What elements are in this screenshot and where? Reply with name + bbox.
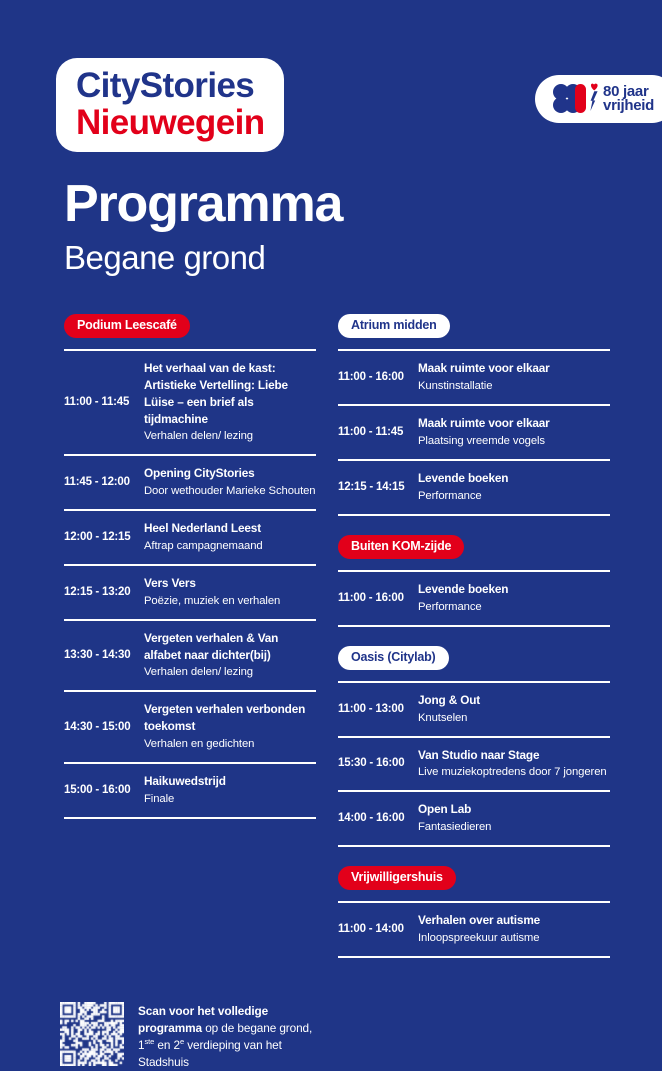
tulip-flame-icon <box>588 83 602 113</box>
program-entry: 13:30 - 14:30Vergeten verhalen & Van alf… <box>64 621 316 693</box>
vrijheid-emblem-icon <box>553 84 599 114</box>
entry-time: 11:00 - 16:00 <box>338 371 418 383</box>
entry-time: 11:00 - 16:00 <box>338 592 418 604</box>
venue-header: Oasis (Citylab) <box>338 646 610 670</box>
entry-body: Vergeten verhalen & Van alfabet naar dic… <box>144 630 316 681</box>
entry-body: HaikuwedstrijdFinale <box>144 773 316 807</box>
entry-description: Fantasiedieren <box>418 819 610 835</box>
entry-body: Van Studio naar StageLive muziekoptreden… <box>418 747 610 781</box>
venue-section: Podium Leescafé11:00 - 11:45Het verhaal … <box>64 314 316 818</box>
program-entry: 11:00 - 11:45Het verhaal van de kast: Ar… <box>64 351 316 456</box>
venue-badge: Buiten KOM-zijde <box>338 535 464 559</box>
entry-time: 11:45 - 12:00 <box>64 476 144 488</box>
entry-body: Open LabFantasiedieren <box>418 801 610 835</box>
right-program-column: Atrium midden11:00 - 16:00Maak ruimte vo… <box>338 314 610 958</box>
program-entry: 11:00 - 13:00Jong & OutKnutselen <box>338 683 610 738</box>
citystories-logo: CityStories Nieuwegein <box>62 61 278 149</box>
qr-text-bold: Scan voor het volledige programma <box>138 1004 268 1035</box>
ordinal-1-suffix: ste <box>144 1037 154 1046</box>
entry-description: Knutselen <box>418 710 610 726</box>
program-entry: 15:00 - 16:00HaikuwedstrijdFinale <box>64 764 316 819</box>
entry-time: 11:00 - 11:45 <box>64 396 144 408</box>
venue-header: Atrium midden <box>338 314 610 338</box>
program-entry: 15:30 - 16:00Van Studio naar StageLive m… <box>338 738 610 793</box>
entry-title: Maak ruimte voor elkaar <box>418 360 610 377</box>
program-entry: 11:45 - 12:00Opening CityStoriesDoor wet… <box>64 456 316 511</box>
page-title: Programma <box>64 178 662 230</box>
logo-line-citystories: CityStories <box>76 68 264 103</box>
entry-description: Performance <box>418 599 610 615</box>
entry-description: Live muziekoptredens door 7 jongeren <box>418 764 610 780</box>
program-entry: 14:30 - 15:00Vergeten verhalen verbonden… <box>64 692 316 764</box>
venue-section: Vrijwilligershuis11:00 - 14:00Verhalen o… <box>338 866 610 958</box>
entry-title: Maak ruimte voor elkaar <box>418 415 610 432</box>
venue-header: Buiten KOM-zijde <box>338 535 610 559</box>
page-subtitle: Begane grond <box>64 240 662 276</box>
ordinal-2-suffix: e <box>180 1037 184 1046</box>
entry-body: Maak ruimte voor elkaarPlaatsing vreemde… <box>418 415 610 449</box>
entry-description: Performance <box>418 488 610 504</box>
venue-section: Atrium midden11:00 - 16:00Maak ruimte vo… <box>338 314 610 515</box>
entry-body: Opening CityStoriesDoor wethouder Mariek… <box>144 465 316 499</box>
program-entry: 12:00 - 12:15Heel Nederland LeestAftrap … <box>64 511 316 566</box>
entry-time: 12:15 - 13:20 <box>64 586 144 598</box>
entry-description: Door wethouder Marieke Schouten <box>144 483 316 499</box>
entry-body: Maak ruimte voor elkaarKunstinstallatie <box>418 360 610 394</box>
venue-badge: Vrijwilligershuis <box>338 866 456 890</box>
page-header: CityStories Nieuwegein 80 jaar vrijheid <box>0 0 662 168</box>
venue-badge: Podium Leescafé <box>64 314 190 338</box>
entry-description: Finale <box>144 791 316 807</box>
program-entry-list: 11:00 - 13:00Jong & OutKnutselen15:30 - … <box>338 681 610 847</box>
entry-time: 15:00 - 16:00 <box>64 784 144 796</box>
logo-line-nieuwegein: Nieuwegein <box>76 105 264 140</box>
entry-title: Jong & Out <box>418 692 610 709</box>
entry-description: Poëzie, muziek en verhalen <box>144 593 316 609</box>
entry-title: Open Lab <box>418 801 610 818</box>
program-entry: 12:15 - 13:20Vers VersPoëzie, muziek en … <box>64 566 316 621</box>
entry-body: Levende boekenPerformance <box>418 581 610 615</box>
qr-footer-text: Scan voor het volledige programma op de … <box>138 1002 328 1071</box>
program-columns: Podium Leescafé11:00 - 11:45Het verhaal … <box>0 314 662 958</box>
entry-body: Vergeten verhalen verbonden toekomstVerh… <box>144 701 316 752</box>
program-entry-list: 11:00 - 14:00Verhalen over autismeInloop… <box>338 901 610 958</box>
entry-description: Verhalen delen/ lezing <box>144 428 316 444</box>
program-entry-list: 11:00 - 16:00Levende boekenPerformance <box>338 570 610 627</box>
left-program-column: Podium Leescafé11:00 - 11:45Het verhaal … <box>64 314 316 958</box>
entry-title: Van Studio naar Stage <box>418 747 610 764</box>
entry-title: Levende boeken <box>418 581 610 598</box>
program-entry-list: 11:00 - 16:00Maak ruimte voor elkaarKuns… <box>338 349 610 515</box>
entry-title: Haikuwedstrijd <box>144 773 316 790</box>
entry-body: Het verhaal van de kast: Artistieke Vert… <box>144 360 316 444</box>
program-entry: 11:00 - 16:00Maak ruimte voor elkaarKuns… <box>338 351 610 406</box>
venue-section: Buiten KOM-zijde11:00 - 16:00Levende boe… <box>338 535 610 627</box>
venue-badge: Oasis (Citylab) <box>338 646 449 670</box>
vrijheid-line-2: vrijheid <box>603 99 654 113</box>
entry-body: Heel Nederland LeestAftrap campagnemaand <box>144 520 316 554</box>
entry-body: Verhalen over autismeInloopspreekuur aut… <box>418 912 610 946</box>
entry-description: Aftrap campagnemaand <box>144 538 316 554</box>
entry-title: Het verhaal van de kast: Artistieke Vert… <box>144 360 316 427</box>
qr-footer: Scan voor het volledige programma op de … <box>0 1002 662 1071</box>
entry-title: Verhalen over autisme <box>418 912 610 929</box>
entry-description: Plaatsing vreemde vogels <box>418 433 610 449</box>
entry-time: 14:00 - 16:00 <box>338 812 418 824</box>
program-entry: 12:15 - 14:15Levende boekenPerformance <box>338 461 610 516</box>
entry-body: Jong & OutKnutselen <box>418 692 610 726</box>
entry-time: 11:00 - 14:00 <box>338 923 418 935</box>
title-block: Programma Begane grond <box>0 178 662 276</box>
entry-time: 13:30 - 14:30 <box>64 649 144 661</box>
entry-time: 11:00 - 11:45 <box>338 426 418 438</box>
program-entry: 11:00 - 11:45Maak ruimte voor elkaarPlaa… <box>338 406 610 461</box>
entry-title: Vergeten verhalen verbonden toekomst <box>144 701 316 735</box>
entry-description: Inloopspreekuur autisme <box>418 930 610 946</box>
entry-time: 11:00 - 13:00 <box>338 703 418 715</box>
entry-title: Vergeten verhalen & Van alfabet naar dic… <box>144 630 316 664</box>
entry-time: 14:30 - 15:00 <box>64 721 144 733</box>
entry-time: 15:30 - 16:00 <box>338 757 418 769</box>
entry-title: Opening CityStories <box>144 465 316 482</box>
entry-description: Verhalen delen/ lezing <box>144 664 316 680</box>
entry-time: 12:15 - 14:15 <box>338 481 418 493</box>
venue-header: Vrijwilligershuis <box>338 866 610 890</box>
entry-description: Kunstinstallatie <box>418 378 610 394</box>
80-jaar-vrijheid-badge: 80 jaar vrijheid <box>535 75 662 123</box>
vrijheid-text: 80 jaar vrijheid <box>603 85 654 114</box>
program-entry: 11:00 - 16:00Levende boekenPerformance <box>338 572 610 627</box>
entry-title: Levende boeken <box>418 470 610 487</box>
program-entry: 11:00 - 14:00Verhalen over autismeInloop… <box>338 903 610 958</box>
program-entry: 14:00 - 16:00Open LabFantasiedieren <box>338 792 610 847</box>
entry-title: Vers Vers <box>144 575 316 592</box>
venue-header: Podium Leescafé <box>64 314 316 338</box>
entry-description: Verhalen en gedichten <box>144 736 316 752</box>
qr-code-icon[interactable] <box>60 1002 124 1066</box>
entry-title: Heel Nederland Leest <box>144 520 316 537</box>
entry-body: Levende boekenPerformance <box>418 470 610 504</box>
venue-badge: Atrium midden <box>338 314 450 338</box>
entry-time: 12:00 - 12:15 <box>64 531 144 543</box>
entry-body: Vers VersPoëzie, muziek en verhalen <box>144 575 316 609</box>
program-entry-list: 11:00 - 11:45Het verhaal van de kast: Ar… <box>64 349 316 818</box>
venue-section: Oasis (Citylab)11:00 - 13:00Jong & OutKn… <box>338 646 610 847</box>
